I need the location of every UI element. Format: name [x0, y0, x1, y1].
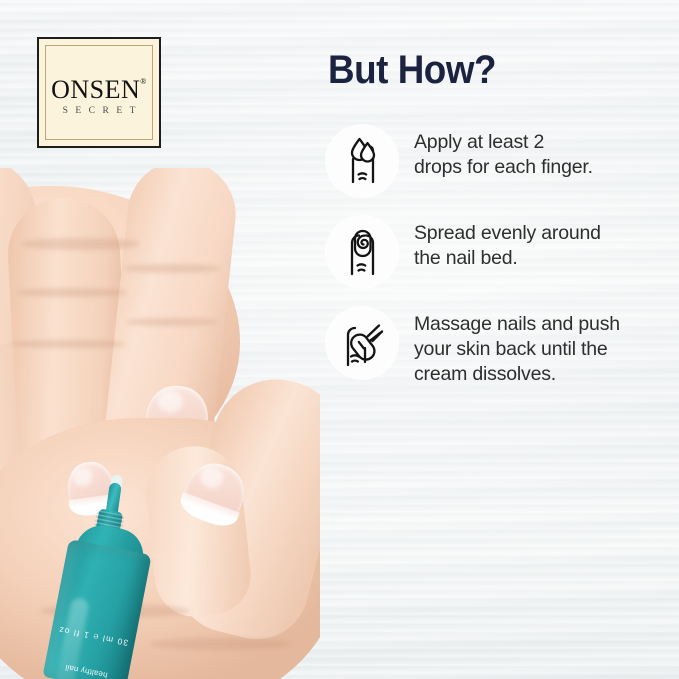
logo-wordmark: ONSEN®: [39, 77, 159, 103]
step-line: Apply at least 2: [414, 130, 679, 155]
page-title: But How?: [328, 50, 496, 90]
knuckle-crease: [16, 288, 128, 297]
knuckle-crease: [22, 238, 140, 250]
step-line: your skin back until the: [414, 337, 679, 362]
knuckle-crease: [124, 264, 220, 273]
list-item: Apply at least 2 drops for each finger.: [326, 125, 679, 197]
step-line: cream dissolves.: [414, 362, 679, 387]
finger-with-drops-icon: [326, 125, 398, 197]
knuckle-crease: [126, 318, 218, 326]
nail-shine: [198, 463, 227, 491]
registered-trademark-icon: ®: [140, 77, 147, 86]
steps-list: Apply at least 2 drops for each finger.: [326, 125, 679, 406]
logo-tagline: SECRET: [39, 107, 159, 117]
step-description: Massage nails and push your skin back un…: [398, 307, 679, 387]
brand-logo: ONSEN® SECRET: [37, 37, 161, 148]
knuckle-crease: [10, 340, 126, 348]
step-line: the nail bed.: [414, 246, 679, 271]
hands-photo: [0, 168, 320, 679]
step-description: Spread evenly around the nail bed.: [398, 216, 679, 271]
step-line: Spread evenly around: [414, 221, 679, 246]
nail-shine: [72, 466, 93, 487]
list-item: Spread evenly around the nail bed.: [326, 216, 679, 288]
finger-with-swirl-icon: [326, 216, 398, 288]
finger-with-cuticle-pusher-icon: [326, 307, 398, 379]
bottle-body: 30 ml ℮ 1 fl oz healthy nail growth & he…: [43, 539, 152, 679]
promo-image-canvas: 30 ml ℮ 1 fl oz healthy nail growth & he…: [0, 0, 679, 679]
palm-crease: [150, 638, 290, 650]
list-item: Massage nails and push your skin back un…: [326, 307, 679, 387]
logo-brand-name: ONSEN: [51, 75, 140, 104]
step-line: drops for each finger.: [414, 155, 679, 180]
nail-shine: [156, 389, 183, 414]
step-line: Massage nails and push: [414, 312, 679, 337]
instructions-panel: But How? Apply at least 2 drops: [326, 0, 679, 679]
step-description: Apply at least 2 drops for each finger.: [398, 125, 679, 180]
